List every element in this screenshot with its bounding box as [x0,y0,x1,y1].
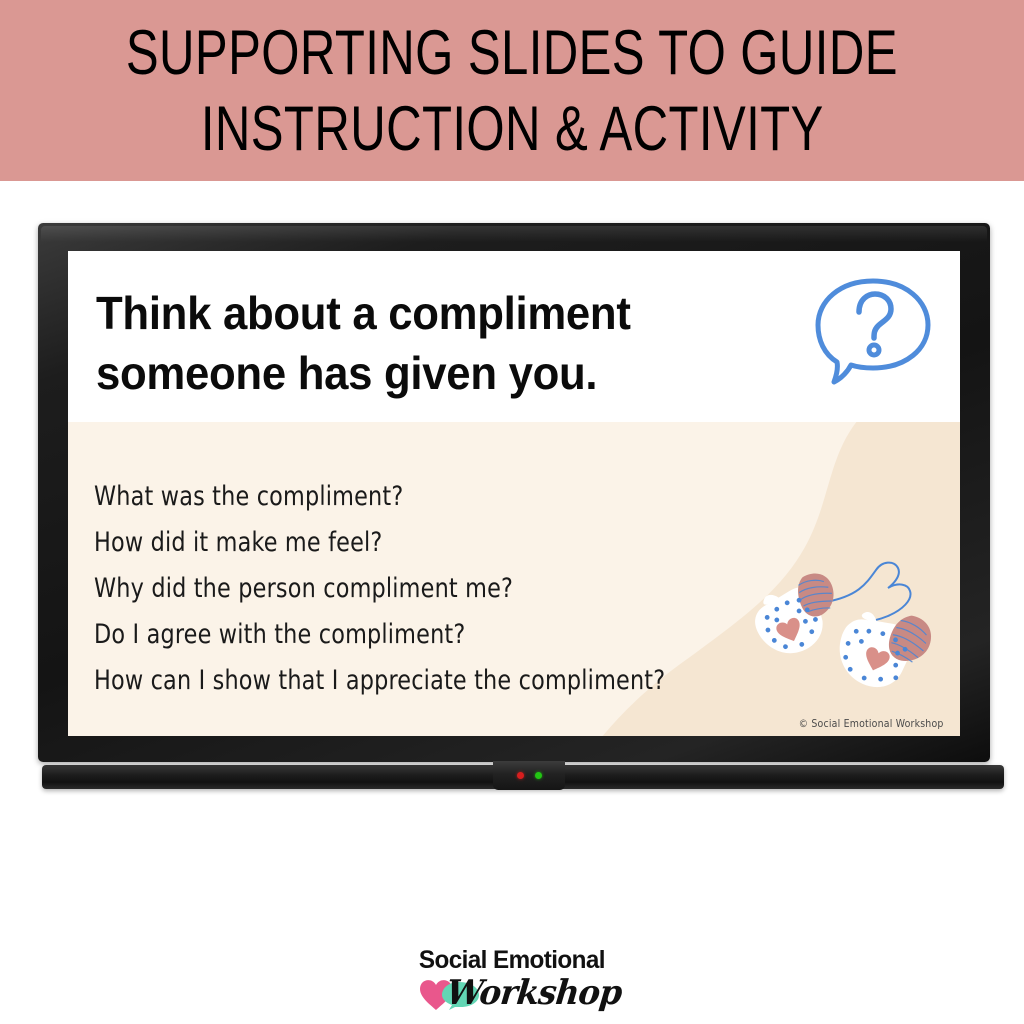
tv-bezel: Think about a compliment someone has giv… [38,223,990,762]
tv-device: Think about a compliment someone has giv… [38,223,990,789]
slide-screen: Think about a compliment someone has giv… [68,251,960,736]
header-title-line-2: INSTRUCTION & ACTIVITY [201,91,824,167]
slide-body-section: What was the compliment? How did it make… [68,422,960,736]
power-led-red-icon [517,772,524,779]
tv-control-panel[interactable] [493,761,565,790]
brand-logo-title: Social Emotional [419,946,605,974]
header-banner: SUPPORTING SLIDES TO GUIDE INSTRUCTION &… [0,0,1024,181]
question-speech-bubble-icon [810,275,936,387]
brand-logo-bottom-row: Workshop [397,973,627,1013]
slide-heading-line-1: Think about a compliment [96,283,752,343]
brand-logo-subtitle: Workshop [445,974,624,1012]
question-line: How can I show that I appreciate the com… [94,658,665,704]
question-line: What was the compliment? [94,474,665,520]
question-line: Do I agree with the compliment? [94,612,665,658]
slide-heading-line-2: someone has given you. [96,343,752,403]
mittens-illustration [748,540,948,690]
copyright-notice: © Social Emotional Workshop [799,717,944,730]
brand-logo: Social Emotional Workshop [0,946,1024,1024]
question-list: What was the compliment? How did it make… [94,474,715,704]
slide-heading-section: Think about a compliment someone has giv… [68,251,960,422]
question-line: How did it make me feel? [94,520,665,566]
status-led-green-icon [535,772,542,779]
question-line: Why did the person compliment me? [94,566,665,612]
slide-heading: Think about a compliment someone has giv… [96,283,752,403]
header-title-line-1: SUPPORTING SLIDES TO GUIDE [126,15,898,91]
